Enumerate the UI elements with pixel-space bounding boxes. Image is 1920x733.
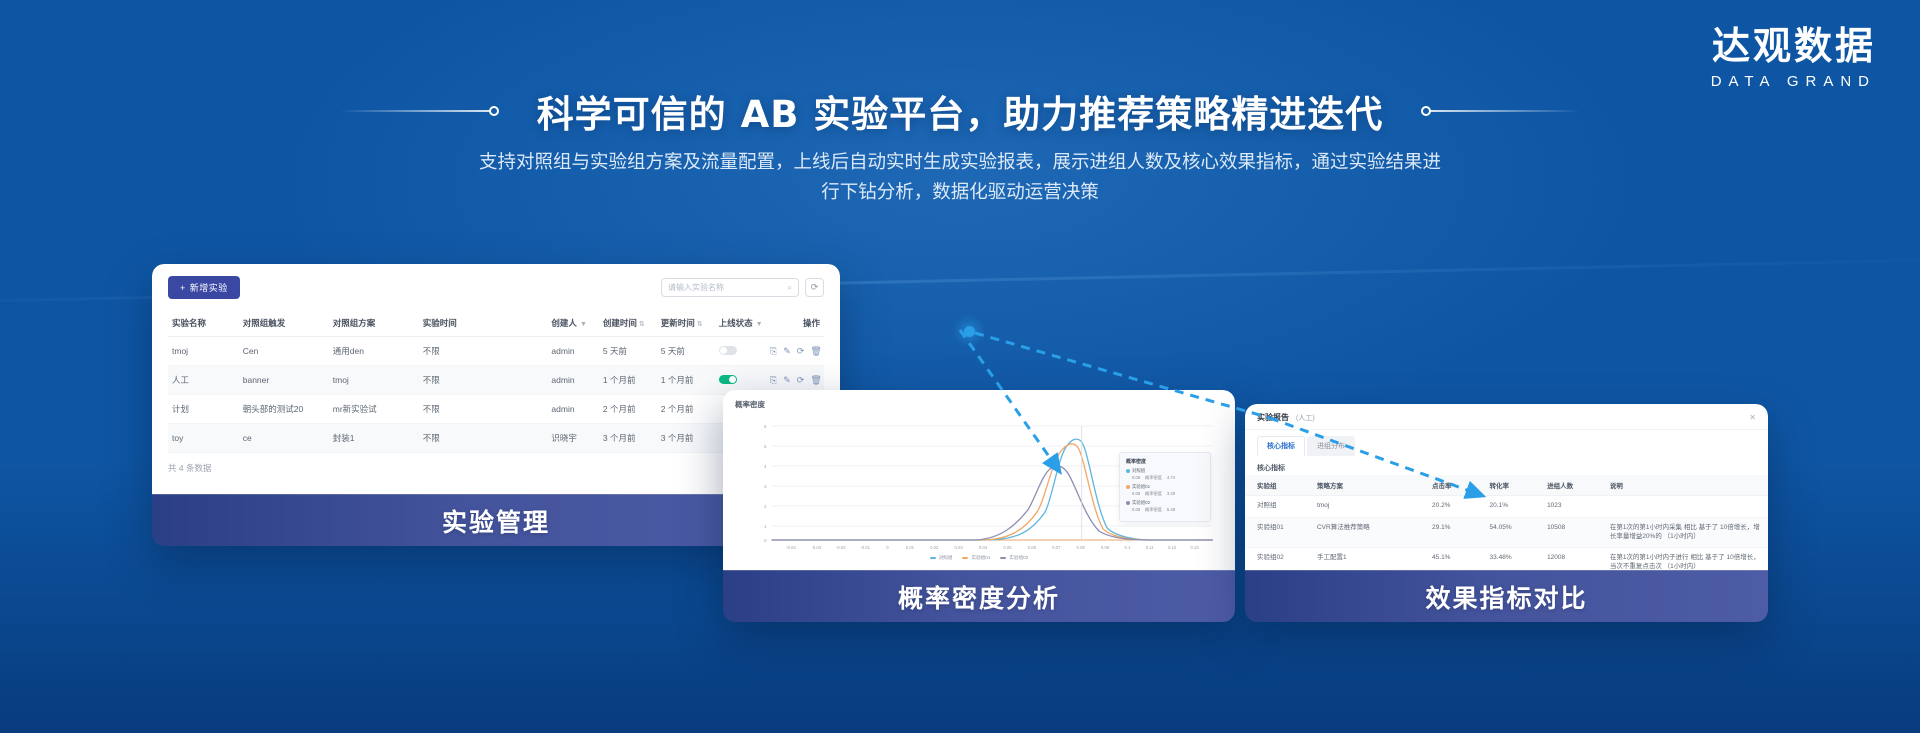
delete-icon[interactable]: 🗑 bbox=[810, 375, 821, 386]
svg-text:-0.04: -0.04 bbox=[786, 545, 796, 550]
y-axis-ticks: 654 321 0 bbox=[764, 424, 767, 543]
legend-item[interactable]: 实验组02 bbox=[1000, 555, 1028, 561]
cell-plan: mr新实验试 bbox=[329, 395, 419, 424]
card-probability-density[interactable]: 概率密度 654 321 0 bbox=[723, 390, 1235, 622]
svg-text:0.09: 0.09 bbox=[1101, 545, 1110, 550]
hero-subtitle: 支持对照组与实验组方案及流量配置，上线后自动实时生成实验报表，展示进组人数及核心… bbox=[250, 148, 1670, 208]
svg-text:0.08: 0.08 bbox=[1077, 545, 1086, 550]
tab-group-distribution[interactable]: 进组分布 bbox=[1307, 436, 1355, 456]
cell-note: 在第1次的第1小时内子进行 相比 基于了 10倍增长，当次不重复点击次 （1小时… bbox=[1606, 548, 1768, 570]
svg-text:5: 5 bbox=[764, 444, 767, 449]
cell-users: 12008 bbox=[1543, 548, 1606, 570]
new-experiment-label: 新增实验 bbox=[190, 281, 228, 294]
col-label: 实验时间 bbox=[423, 318, 457, 328]
cell-plan: tmoj bbox=[1313, 496, 1428, 518]
cell-updated: 2 个月前 bbox=[657, 395, 715, 424]
heading-rule-right bbox=[1421, 106, 1580, 116]
table-row[interactable]: 实验组02 手工配置1 45.1% 33.48% 12008 在第1次的第1小时… bbox=[1245, 548, 1768, 570]
legend-swatch-icon bbox=[1000, 557, 1006, 559]
cell-updated: 1 个月前 bbox=[657, 366, 715, 395]
svg-text:0.1: 0.1 bbox=[1124, 545, 1131, 550]
cell-plan: 封装1 bbox=[329, 424, 419, 453]
legend-swatch-icon bbox=[1126, 501, 1130, 505]
cell-updated: 5 天前 bbox=[657, 337, 715, 366]
tooltip-value: 5.48 bbox=[1167, 507, 1175, 513]
col-plan: 策略方案 bbox=[1313, 475, 1428, 496]
col-control-plan[interactable]: 对照组方案 bbox=[329, 310, 419, 337]
cell-trigger: Cen bbox=[239, 337, 329, 366]
col-actions: 操作 bbox=[766, 310, 824, 337]
svg-text:-0.01: -0.01 bbox=[860, 545, 870, 550]
svg-text:0.12: 0.12 bbox=[1168, 545, 1177, 550]
col-label: 创建人 bbox=[551, 318, 577, 328]
col-label: 上线状态 bbox=[719, 318, 753, 328]
close-icon[interactable]: ✕ bbox=[1749, 413, 1756, 422]
cell-trigger: banner bbox=[239, 366, 329, 395]
cell-time: 不限 bbox=[419, 395, 548, 424]
series-label: 对照组 bbox=[1132, 468, 1145, 474]
cell-time: 不限 bbox=[419, 424, 548, 453]
legend-item[interactable]: 对照组 bbox=[930, 555, 953, 561]
toolbar-right-group: 请输入实验名称 ⌕ ⟳ bbox=[661, 278, 824, 297]
cell-cvr: 33.48% bbox=[1486, 548, 1544, 570]
cell-plan: CVR算法推荐策略 bbox=[1313, 517, 1428, 548]
cell-time: 不限 bbox=[419, 366, 548, 395]
col-cvr: 转化率 bbox=[1486, 475, 1544, 496]
col-group: 实验组 bbox=[1245, 475, 1313, 496]
page-title: 科学可信的 AB 实验平台，助力推荐策略精进迭代 bbox=[537, 84, 1384, 138]
cell-updated: 3 个月前 bbox=[657, 424, 715, 453]
svg-text:0: 0 bbox=[886, 545, 889, 550]
cell-note: 在第1次的第1小时内采集 相比 基于了 10倍增长，增长率量增益20%的 （1小… bbox=[1606, 517, 1768, 548]
cell-name: tmoj bbox=[168, 337, 239, 366]
search-icon[interactable]: ⌕ bbox=[788, 283, 792, 293]
table-row[interactable]: 实验组01 CVR算法推荐策略 29.1% 54.05% 10508 在第1次的… bbox=[1245, 517, 1768, 548]
cell-name: 计划 bbox=[168, 395, 239, 424]
cell-group: 实验组01 bbox=[1245, 517, 1313, 548]
search-placeholder: 请输入实验名称 bbox=[668, 282, 724, 293]
hero-heading-row: 科学可信的 AB 实验平台，助力推荐策略精进迭代 bbox=[0, 84, 1920, 138]
panel-title: 实验报告 bbox=[1257, 412, 1289, 423]
cell-online-toggle[interactable] bbox=[715, 337, 766, 366]
rule-line bbox=[1430, 110, 1580, 112]
row-actions: ⎘✎⟳🗑 bbox=[770, 346, 820, 357]
metrics-table-body: 对照组 tmoj 20.2% 20.1% 1023 实验组01 CVR算法推荐策… bbox=[1245, 496, 1768, 571]
table-row[interactable]: 人工 banner tmoj 不限 admin 1 个月前 1 个月前 ⎘✎⟳🗑 bbox=[168, 366, 824, 395]
cell-note bbox=[1606, 496, 1768, 518]
legend-label: 实验组01 bbox=[971, 555, 990, 561]
edit-icon[interactable]: ✎ bbox=[783, 346, 791, 357]
tooltip-entry: 实验组01 0.08 概率密度 3.29 bbox=[1126, 484, 1204, 497]
cell-group: 对照组 bbox=[1245, 496, 1313, 518]
cell-time: 不限 bbox=[419, 337, 548, 366]
svg-text:0.06: 0.06 bbox=[1028, 545, 1037, 550]
svg-text:4: 4 bbox=[764, 464, 767, 469]
table-toolbar: + 新增实验 请输入实验名称 ⌕ ⟳ bbox=[168, 276, 824, 299]
table-row[interactable]: tmoj Cen 通用den 不限 admin 5 天前 5 天前 ⎘✎⟳🗑 bbox=[168, 337, 824, 366]
svg-text:0.04: 0.04 bbox=[979, 545, 988, 550]
cell-creator: admin bbox=[547, 395, 598, 424]
x-axis-ticks: -0.04-0.03-0.02 -0.0100.01 0.020.030.04 … bbox=[786, 545, 1199, 550]
cell-ctr: 20.2% bbox=[1428, 496, 1486, 518]
filter-icon[interactable]: ▼ bbox=[580, 321, 587, 328]
svg-text:0.01: 0.01 bbox=[906, 545, 915, 550]
legend-swatch-icon bbox=[1126, 485, 1130, 489]
svg-text:0.05: 0.05 bbox=[1003, 545, 1012, 550]
tooltip-values: 0.08 概率密度 5.48 bbox=[1126, 507, 1204, 513]
online-toggle[interactable] bbox=[719, 346, 737, 355]
legend-item[interactable]: 实验组01 bbox=[962, 555, 990, 561]
cell-ctr: 29.1% bbox=[1428, 517, 1486, 548]
cell-created: 3 个月前 bbox=[599, 424, 657, 453]
hero-subtitle-line-2: 行下钻分析，数据化驱动运营决策 bbox=[250, 178, 1670, 208]
row-actions: ⎘✎⟳🗑 bbox=[770, 375, 820, 386]
chart-tooltip: 概率密度 对照组 0.08 概率密度 4.74 实验组01 bbox=[1119, 452, 1211, 522]
chart-legend: 对照组 实验组01 实验组02 bbox=[735, 555, 1223, 561]
col-online-status[interactable]: 上线状态▼ bbox=[715, 310, 766, 337]
cell-created: 1 个月前 bbox=[599, 366, 657, 395]
col-users: 进组人数 bbox=[1543, 475, 1606, 496]
delete-icon[interactable]: 🗑 bbox=[810, 346, 821, 357]
cell-creator: admin bbox=[547, 337, 598, 366]
cell-ctr: 45.1% bbox=[1428, 548, 1486, 570]
cell-group: 实验组02 bbox=[1245, 548, 1313, 570]
col-control-trigger[interactable]: 对照组触发 bbox=[239, 310, 329, 337]
cell-trigger: ce bbox=[239, 424, 329, 453]
refresh-icon[interactable]: ⟳ bbox=[797, 375, 805, 386]
brand-logo: 达观数据 DATA GRAND bbox=[1711, 26, 1876, 90]
tooltip-series-name: 实验组02 bbox=[1126, 500, 1204, 506]
col-label: 对照组方案 bbox=[333, 318, 376, 328]
svg-text:-0.02: -0.02 bbox=[836, 545, 846, 550]
cell-plan: tmoj bbox=[329, 366, 419, 395]
col-creator[interactable]: 创建人▼ bbox=[547, 310, 598, 337]
tooltip-series-name: 对照组 bbox=[1126, 468, 1204, 474]
svg-text:1: 1 bbox=[764, 524, 767, 529]
col-label: 实验名称 bbox=[172, 318, 206, 328]
search-input[interactable]: 请输入实验名称 ⌕ bbox=[661, 278, 799, 297]
cell-creator: admin bbox=[547, 366, 598, 395]
brand-name-cn: 达观数据 bbox=[1711, 26, 1876, 68]
legend-swatch-icon bbox=[962, 557, 968, 559]
series-label: 实验组02 bbox=[1132, 500, 1150, 506]
tooltip-values: 0.08 概率密度 3.29 bbox=[1126, 491, 1204, 497]
cell-created: 5 天前 bbox=[599, 337, 657, 366]
cell-name: 人工 bbox=[168, 366, 239, 395]
tooltip-entry: 对照组 0.08 概率密度 4.74 bbox=[1126, 468, 1204, 481]
copy-icon[interactable]: ⎘ bbox=[770, 346, 777, 357]
svg-text:0: 0 bbox=[764, 538, 767, 543]
hero-subtitle-line-1: 支持对照组与实验组方案及流量配置，上线后自动实时生成实验报表，展示进组人数及核心… bbox=[250, 148, 1670, 178]
svg-text:0.07: 0.07 bbox=[1052, 545, 1061, 550]
copy-icon[interactable]: ⎘ bbox=[770, 375, 777, 386]
metrics-table: 实验组 策略方案 点击率 转化率 进组人数 说明 对照组 tmoj 20.2% … bbox=[1245, 475, 1768, 570]
tooltip-values: 0.08 概率密度 4.74 bbox=[1126, 475, 1204, 481]
refresh-icon[interactable]: ⟳ bbox=[797, 346, 805, 357]
cell-cvr: 20.1% bbox=[1486, 496, 1544, 518]
cell-name: toy bbox=[168, 424, 239, 453]
svg-text:2: 2 bbox=[764, 504, 767, 509]
svg-text:-0.03: -0.03 bbox=[811, 545, 821, 550]
panel-subtitle: (人工) bbox=[1296, 413, 1315, 423]
col-label: 操作 bbox=[803, 318, 820, 328]
sort-icon[interactable]: ⇅ bbox=[697, 321, 703, 328]
tooltip-x: 0.08 bbox=[1132, 491, 1140, 497]
screenshot-density-chart: 概率密度 654 321 0 bbox=[723, 390, 1235, 570]
col-updated-time[interactable]: 更新时间⇅ bbox=[657, 310, 715, 337]
cell-users: 1023 bbox=[1543, 496, 1606, 518]
panel-header: 实验报告 (人工) ✕ bbox=[1245, 404, 1768, 430]
col-label: 创建时间 bbox=[603, 318, 637, 328]
chart-plot-area: 654 321 0 -0.04-0.03-0.02 -0.0100.01 0.0… bbox=[735, 412, 1223, 554]
legend-label: 实验组02 bbox=[1009, 555, 1028, 561]
cell-cvr: 54.05% bbox=[1486, 517, 1544, 548]
tooltip-value: 4.74 bbox=[1167, 475, 1175, 481]
svg-text:0.03: 0.03 bbox=[955, 545, 964, 550]
tooltip-metric: 概率密度 bbox=[1145, 507, 1162, 513]
svg-text:0.02: 0.02 bbox=[930, 545, 939, 550]
refresh-icon[interactable]: ⟳ bbox=[805, 278, 824, 297]
table-header-row: 实验名称 对照组触发 对照组方案 实验时间 创建人▼ 创建时间⇅ 更新时间⇅ 上… bbox=[168, 310, 824, 337]
cell-created: 2 个月前 bbox=[599, 395, 657, 424]
tab-core-metrics[interactable]: 核心指标 bbox=[1257, 436, 1305, 456]
rule-line bbox=[340, 110, 490, 112]
col-label: 更新时间 bbox=[661, 318, 695, 328]
filter-icon[interactable]: ▼ bbox=[756, 321, 763, 328]
svg-text:6: 6 bbox=[764, 424, 767, 429]
svg-text:0.13: 0.13 bbox=[1190, 545, 1199, 550]
tooltip-title: 概率密度 bbox=[1126, 458, 1204, 465]
col-experiment-time[interactable]: 实验时间 bbox=[419, 310, 548, 337]
ribbon-label-metrics-comparison: 效果指标对比 bbox=[1245, 570, 1768, 622]
cell-plan: 通用den bbox=[329, 337, 419, 366]
series-label: 实验组01 bbox=[1132, 484, 1150, 490]
card-metrics-comparison[interactable]: 实验报告 (人工) ✕ 核心指标 进组分布 核心指标 实验组 策略方案 点击率 … bbox=[1245, 404, 1768, 622]
new-experiment-button[interactable]: + 新增实验 bbox=[168, 276, 240, 299]
plus-icon: + bbox=[180, 283, 186, 293]
tooltip-entry: 实验组02 0.08 概率密度 5.48 bbox=[1126, 500, 1204, 513]
cell-trigger: 朝头部的测试20 bbox=[239, 395, 329, 424]
section-label: 核心指标 bbox=[1245, 456, 1768, 475]
table-header-row: 实验组 策略方案 点击率 转化率 进组人数 说明 bbox=[1245, 475, 1768, 496]
col-note: 说明 bbox=[1606, 475, 1768, 496]
panel-tabs: 核心指标 进组分布 bbox=[1245, 430, 1768, 456]
legend-label: 对照组 bbox=[939, 555, 953, 561]
chart-title: 概率密度 bbox=[735, 399, 1223, 410]
col-label: 对照组触发 bbox=[243, 318, 286, 328]
tooltip-x: 0.08 bbox=[1132, 475, 1140, 481]
cell-creator: 识晓宇 bbox=[547, 424, 598, 453]
tooltip-series-name: 实验组01 bbox=[1126, 484, 1204, 490]
legend-swatch-icon bbox=[930, 557, 936, 559]
tooltip-value: 3.29 bbox=[1167, 491, 1175, 497]
heading-rule-left bbox=[340, 106, 499, 116]
legend-swatch-icon bbox=[1126, 469, 1130, 473]
rule-dot-icon bbox=[489, 106, 499, 116]
online-toggle[interactable] bbox=[719, 375, 737, 384]
tooltip-x: 0.08 bbox=[1132, 507, 1140, 513]
sort-icon[interactable]: ⇅ bbox=[639, 321, 645, 328]
col-created-time[interactable]: 创建时间⇅ bbox=[599, 310, 657, 337]
cell-plan: 手工配置1 bbox=[1313, 548, 1428, 570]
tooltip-metric: 概率密度 bbox=[1145, 475, 1162, 481]
col-ctr: 点击率 bbox=[1428, 475, 1486, 496]
svg-text:0.11: 0.11 bbox=[1146, 545, 1155, 550]
table-row[interactable]: 对照组 tmoj 20.2% 20.1% 1023 bbox=[1245, 496, 1768, 518]
svg-text:3: 3 bbox=[764, 484, 767, 489]
screenshot-metrics-panel: 实验报告 (人工) ✕ 核心指标 进组分布 核心指标 实验组 策略方案 点击率 … bbox=[1245, 404, 1768, 570]
col-experiment-name[interactable]: 实验名称 bbox=[168, 310, 239, 337]
tooltip-metric: 概率密度 bbox=[1145, 491, 1162, 497]
cell-users: 10508 bbox=[1543, 517, 1606, 548]
edit-icon[interactable]: ✎ bbox=[783, 375, 791, 386]
ribbon-label-probability-density: 概率密度分析 bbox=[723, 570, 1235, 622]
